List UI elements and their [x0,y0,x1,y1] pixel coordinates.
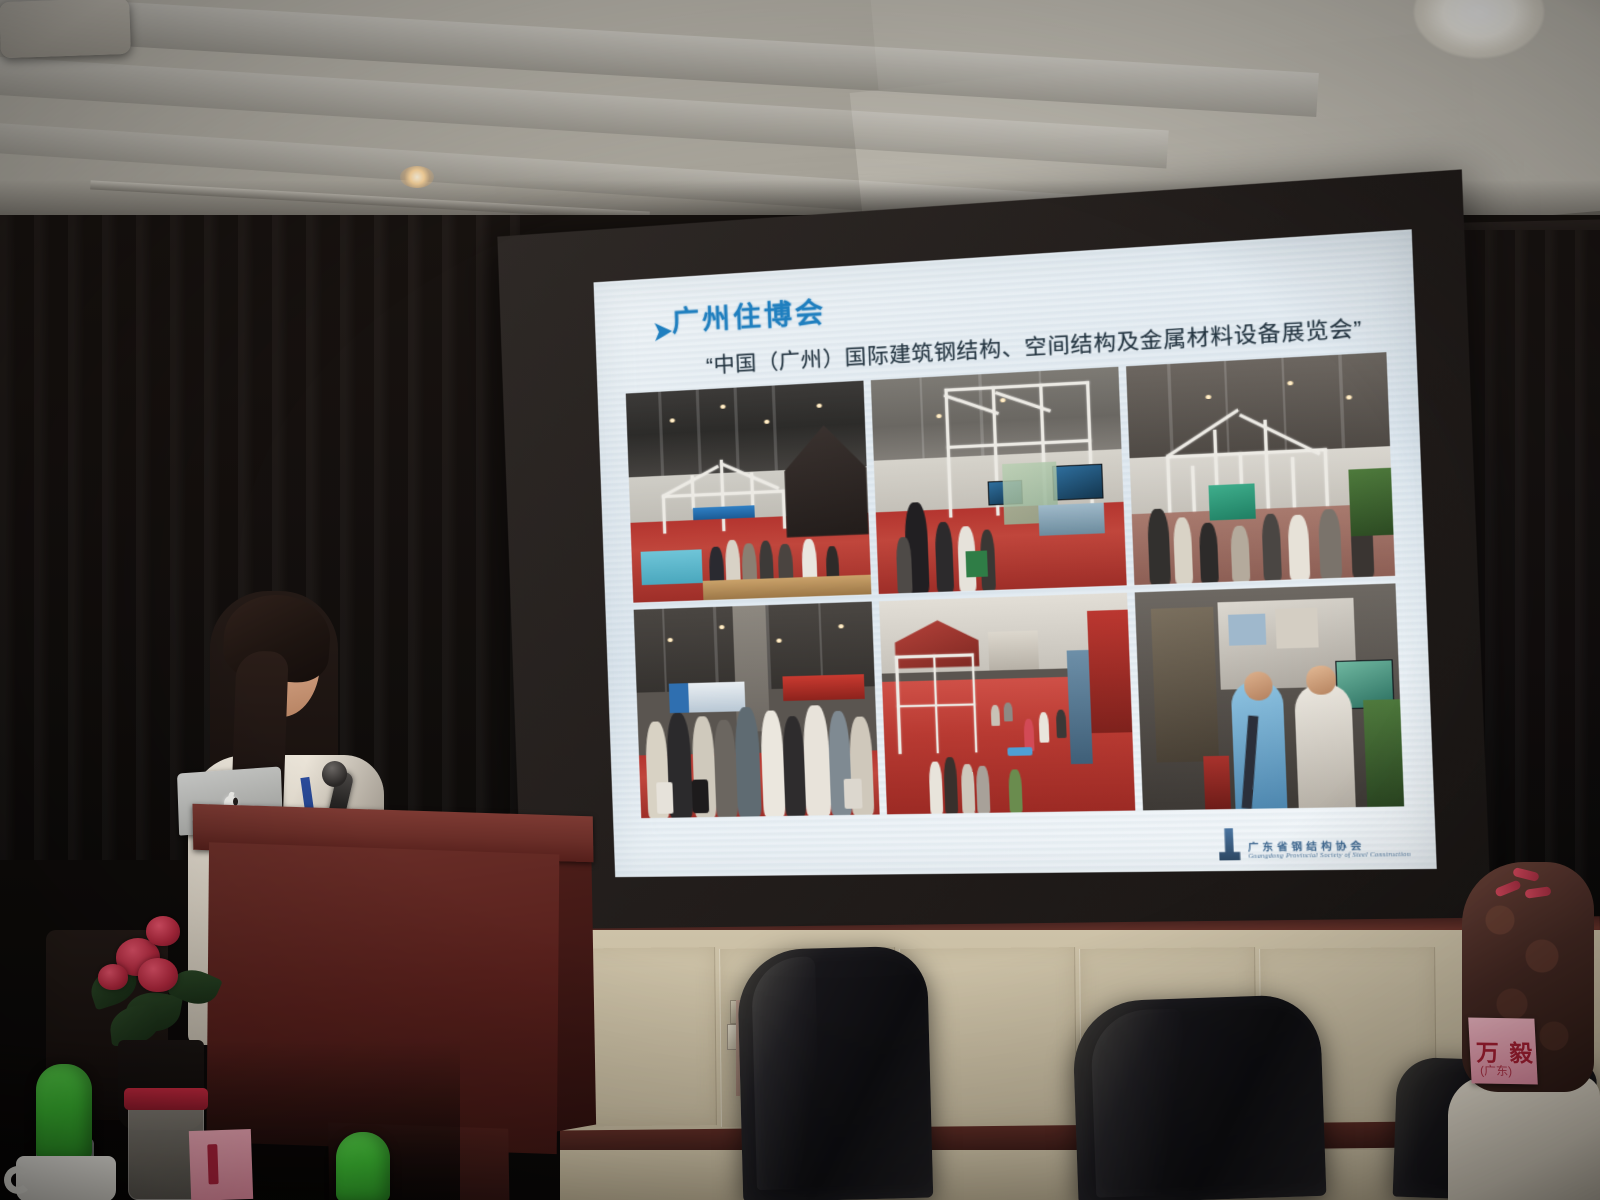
leather-chair [1072,994,1327,1200]
right-booth [1087,610,1132,733]
booth-banner [693,505,755,520]
rose-icon [146,916,180,946]
slide-photo-1 [626,381,871,603]
mug-handle [4,1166,32,1194]
plant [1363,699,1404,807]
plant [1348,468,1393,537]
slide-photo-5 [879,592,1136,814]
leather-chair [737,946,934,1200]
rose-icon [98,964,128,990]
audience-name-card: 万 毅 (广东) [1468,1017,1538,1084]
table-surface [0,0,131,58]
steel-frame-structure [661,457,787,534]
logo-text-en: Guangdong Provincial Society of Steel Co… [1248,851,1411,860]
slide-photo-2 [870,367,1127,594]
background-booth [1151,607,1219,762]
slide-photo-4 [634,601,880,818]
person-head [1244,671,1274,700]
audience-shoulder [1448,1076,1600,1200]
association-logo: 广东省钢结构协会 Guangdong Provincial Society of… [1218,826,1411,861]
green-display [1208,483,1256,520]
person-white-shirt [1294,682,1357,808]
green-bottle [36,1064,92,1160]
slide-title: 广州住博会 [671,290,827,339]
logo-mark-icon [1218,828,1241,860]
green-bottle [336,1132,390,1200]
red-booth-banner [782,674,865,702]
hair-flower-icon [1495,866,1557,906]
slide-title-row: 广州住博会 [651,290,827,340]
model-house-frame [895,653,977,754]
slide-photo-6 [1135,583,1404,811]
name-card-subtext: (广东) [1480,1062,1513,1080]
conference-hall-photo: 广州住博会 “中国（广州）国际建筑钢结构、空间结构及金属材料设备展览会” [0,0,1600,1200]
foreground-name-card [189,1129,253,1200]
presentation-slide: 广州住博会 “中国（广州）国际建筑钢结构、空间结构及金属材料设备展览会” [594,229,1437,877]
slide-photo-3 [1126,352,1395,584]
booth-tv-screen [1052,464,1104,501]
suitcase [691,779,709,813]
pitcher-red-lid [124,1088,208,1110]
slide-photo-grid [626,352,1404,818]
person-head [1306,665,1336,695]
projection-screen: 广州住博会 “中国（广州）国际建筑钢结构、空间结构及金属材料设备展览会” [497,169,1491,936]
tote-bag [656,782,674,814]
rose-icon [138,958,178,992]
